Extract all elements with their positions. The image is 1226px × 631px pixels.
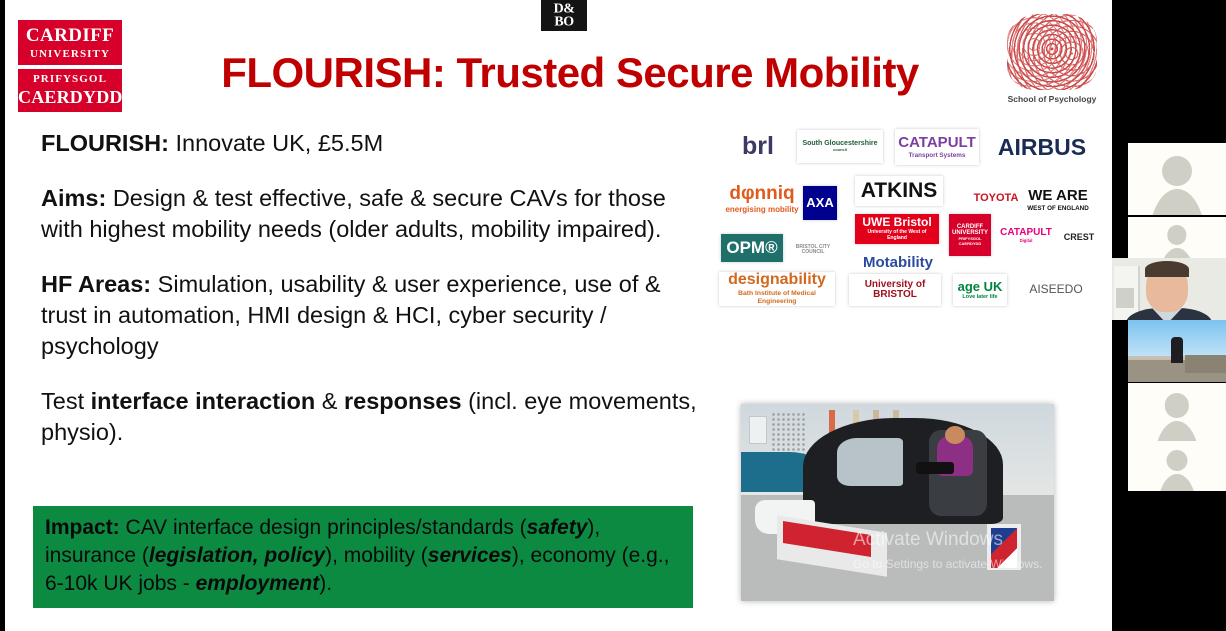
partner-logo-label: BRISTOL CITY COUNCIL (791, 245, 835, 256)
cardiff-logo-line3: PRIFYSGOL (18, 69, 122, 85)
partner-logo-label: CREST (1062, 233, 1097, 242)
partner-logo-catapult-dg: CATAPULTDigital (999, 222, 1053, 250)
paragraph-funding-lead: FLOURISH: (41, 130, 169, 156)
partner-logo-label: Motability (861, 255, 935, 271)
paragraph-aims-text: Design & test effective, safe & secure C… (41, 185, 666, 242)
partner-logo-weareweoflep: WE AREWEST OF ENGLAND (1015, 182, 1101, 218)
partner-logo-sublabel: council (831, 147, 849, 153)
partner-logo-crest: CREST (1057, 218, 1101, 258)
partner-logo-designability: designabilityBath Institute of Medical E… (719, 272, 835, 306)
cav-pod-photo: Activate Windows Go to Settings to activ… (741, 404, 1054, 601)
impact-lead: Impact: (45, 516, 120, 539)
partner-logo-ageuk: age UKLove later life (953, 274, 1007, 306)
partner-logo-label: UWE Bristol (860, 216, 933, 229)
presentation-slide: CARDIFF UNIVERSITY PRIFYSGOL CAERDYDD D&… (5, 0, 1112, 631)
avatar-body-icon (1154, 421, 1199, 441)
partner-logo-aiseedo: AISEEDO (1015, 276, 1097, 302)
paragraph-funding-text: Innovate UK, £5.5M (169, 130, 383, 156)
partner-logo-brl: brl (725, 128, 791, 164)
partner-logo-sublabel: energising mobility (723, 204, 800, 214)
partner-logo-sublabel: PRIFYSGOL CAERDYDD (949, 236, 991, 246)
scenic-ruin (1185, 355, 1226, 374)
partner-logo-axa: AXA (803, 186, 837, 220)
paragraph-hf-areas: HF Areas: Simulation, usability & user e… (41, 269, 701, 362)
partner-logo-label: AIRBUS (996, 135, 1088, 159)
speaker-shelf (1116, 288, 1134, 308)
partner-logo-label: AXA (804, 196, 835, 210)
partner-logo-sublabel: Digital (1018, 238, 1035, 244)
partner-logo-airbus: AIRBUS (993, 132, 1091, 162)
partner-logo-label: dφnniq (727, 184, 796, 204)
partner-logo-label: designability (726, 272, 828, 289)
cardiff-logo-line2: UNIVERSITY (18, 45, 122, 60)
paragraph-funding: FLOURISH: Innovate UK, £5.5M (41, 128, 701, 159)
partner-logo-bristolcc: BRISTOL CITY COUNCIL (791, 230, 835, 270)
cardiff-logo-welsh: PRIFYSGOL CAERDYDD (18, 69, 122, 112)
partner-logo-label: OPM® (724, 239, 779, 257)
photo-tablet (916, 462, 954, 474)
cardiff-logo-line4: CAERDYDD (18, 85, 122, 106)
partner-logo-label: CARDIFF UNIVERSITY (949, 224, 991, 237)
impact-callout: Impact: CAV interface design principles/… (33, 506, 693, 608)
impact-text: Impact: CAV interface design principles/… (45, 514, 683, 598)
video-tile-p6[interactable] (1128, 441, 1226, 491)
windows-activation-watermark: Activate Windows Go to Settings to activ… (853, 528, 1054, 576)
partner-logo-label: CATAPULT (896, 135, 977, 151)
partner-logo-sublabel: Bath Institute of Medical Engineering (719, 289, 835, 305)
partner-logo-label: South Gloucestershire (800, 140, 879, 147)
avatar-head-icon (1165, 393, 1189, 417)
partner-logo-label: WE ARE (1026, 188, 1089, 204)
scenic-person (1171, 337, 1183, 363)
slide-title: FLOURISH: Trusted Secure Mobility (165, 42, 975, 104)
partner-logo-wall: brlSouth GloucestershirecouncilCATAPULTT… (713, 126, 1103, 316)
b-and-o-logo: D&BO (541, 0, 587, 31)
watermark-line1: Activate Windows (853, 529, 1003, 550)
cardiff-university-logo: CARDIFF UNIVERSITY PRIFYSGOL CAERDYDD (18, 20, 122, 112)
school-of-psychology-logo: School of Psychology (1000, 14, 1104, 114)
avatar-body-icon (1149, 189, 1205, 215)
partner-logo-catapult-ts: CATAPULTTransport Systems (895, 129, 979, 165)
speaker-hair (1145, 261, 1189, 277)
partner-logo-cardiff-2: CARDIFF UNIVERSITYPRIFYSGOL CAERDYDD (949, 214, 991, 256)
partner-logo-label: brl (740, 133, 776, 159)
avatar-body-icon (1158, 474, 1197, 491)
photo-passenger-head (945, 426, 965, 444)
b-and-o-logo-text: D&BO (554, 2, 575, 29)
partner-logo-sublabel: Love later life (960, 293, 999, 300)
video-participant-strip[interactable] (1112, 0, 1226, 631)
partner-logo-sublabel: WEST OF ENGLAND (1025, 204, 1091, 212)
video-tile-p3[interactable] (1112, 258, 1226, 320)
b-and-o-line2: BO (554, 15, 573, 30)
partner-logo-sublabel: Transport Systems (907, 151, 968, 159)
avatar-head-icon (1162, 156, 1192, 186)
partner-logo-univbristol: University of BRISTOL (849, 274, 941, 306)
paragraph-test: Test interface interaction & responses (… (41, 386, 701, 448)
partner-logo-atkins: ATKINS (855, 176, 943, 206)
cardiff-logo-line1: CARDIFF (18, 20, 122, 45)
video-tile-p1[interactable] (1128, 143, 1226, 215)
partner-logo-southglos: South Gloucestershirecouncil (797, 130, 883, 163)
partner-logo-label: age UK (956, 280, 1005, 294)
partner-logo-uwe: UWE BristolUniversity of the West of Eng… (855, 214, 939, 244)
avatar-head-icon (1167, 450, 1188, 471)
photo-pod-window (837, 438, 903, 486)
paragraph-aims-lead: Aims: (41, 185, 106, 211)
partner-logo-label: ATKINS (859, 180, 940, 202)
partner-logo-label: TOYOTA (972, 193, 1021, 205)
partner-logo-sublabel: University of the West of England (855, 229, 939, 242)
video-tile-p5[interactable] (1128, 383, 1226, 441)
partner-logo-dynniq: dφnniqenergising mobility (723, 182, 801, 216)
photo-sign (749, 416, 767, 444)
partner-logo-label: CATAPULT (999, 228, 1053, 239)
school-of-psychology-caption: School of Psychology (1000, 94, 1104, 104)
video-tile-p4[interactable] (1128, 320, 1226, 382)
screen: CARDIFF UNIVERSITY PRIFYSGOL CAERDYDD D&… (0, 0, 1226, 631)
partner-logo-label: AISEEDO (1027, 283, 1084, 296)
video-tile-p2[interactable] (1128, 217, 1226, 263)
paragraph-aims: Aims: Design & test effective, safe & se… (41, 183, 701, 245)
watermark-line2: Go to Settings to activate Windows. (853, 552, 1054, 576)
fingerprint-icon (1007, 14, 1097, 90)
paragraph-hf-areas-lead: HF Areas: (41, 271, 151, 297)
photo-tree (771, 412, 805, 454)
partner-logo-label: University of BRISTOL (849, 280, 941, 301)
avatar-head-icon (1167, 225, 1186, 244)
slide-body: FLOURISH: Innovate UK, £5.5M Aims: Desig… (41, 128, 701, 472)
partner-logo-opm: OPM® (721, 234, 783, 262)
partner-logo-motability: Motability (853, 250, 943, 276)
cardiff-logo-english: CARDIFF UNIVERSITY (18, 20, 122, 65)
